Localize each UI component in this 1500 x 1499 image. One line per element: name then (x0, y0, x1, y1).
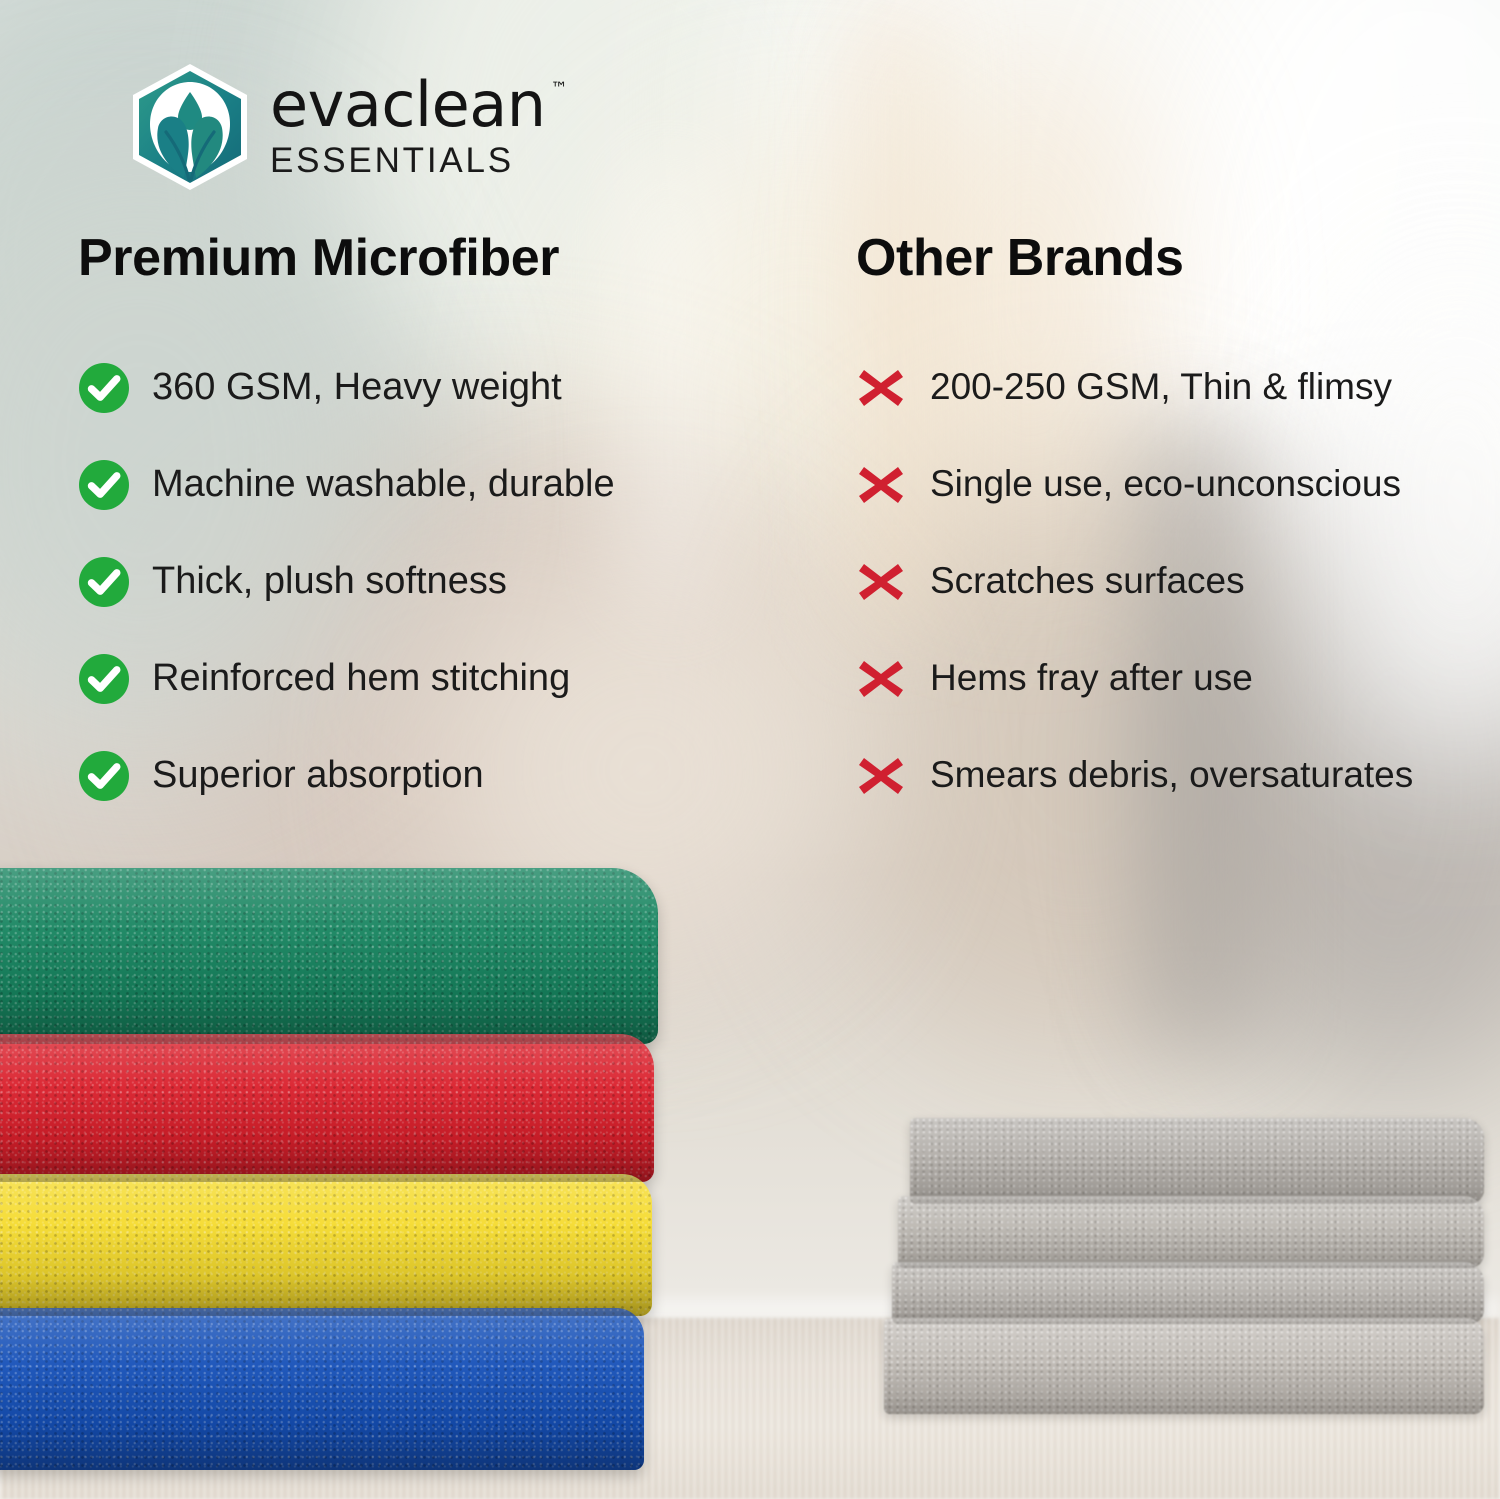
list-item: Reinforced hem stitching (78, 630, 818, 727)
premium-microfiber-towel-stack (0, 868, 676, 1388)
list-item: Single use, eco-unconscious (856, 436, 1486, 533)
hexagon-leaf-droplet-icon (128, 62, 252, 192)
other-brand-towel-stack (884, 1118, 1484, 1418)
feature-label: Single use, eco-unconscious (930, 465, 1401, 504)
feature-label: Scratches surfaces (930, 562, 1245, 601)
premium-column-title: Premium Microfiber (78, 232, 818, 284)
cross-mark-icon (856, 654, 930, 704)
towel-grey (898, 1196, 1484, 1268)
feature-label: Reinforced hem stitching (152, 659, 570, 699)
list-item: 360 GSM, Heavy weight (78, 339, 818, 436)
brand-logo: evaclean ™ ESSENTIALS (128, 62, 546, 192)
check-circle-icon (78, 362, 152, 414)
brand-name: evaclean (270, 75, 546, 135)
list-item: Scratches surfaces (856, 533, 1486, 630)
feature-label: 360 GSM, Heavy weight (152, 368, 562, 408)
check-circle-icon (78, 556, 152, 608)
cross-mark-icon (856, 751, 930, 801)
feature-label: Superior absorption (152, 756, 484, 796)
list-item: Thick, plush softness (78, 533, 818, 630)
cross-mark-icon (856, 460, 930, 510)
towel-grey (910, 1118, 1484, 1204)
towel-green (0, 868, 658, 1044)
list-item: Machine washable, durable (78, 436, 818, 533)
list-item: Superior absorption (78, 727, 818, 824)
brand-wordmark: evaclean ™ ESSENTIALS (270, 73, 546, 181)
list-item: Smears debris, oversaturates (856, 727, 1486, 824)
list-item: Hems fray after use (856, 630, 1486, 727)
towel-yellow (0, 1174, 652, 1316)
towel-red (0, 1034, 654, 1182)
towel-grey (892, 1262, 1484, 1324)
check-circle-icon (78, 459, 152, 511)
towel-grey (884, 1318, 1484, 1414)
list-item: 200-250 GSM, Thin & flimsy (856, 339, 1486, 436)
feature-label: Thick, plush softness (152, 562, 507, 602)
other-brands-column: Other Brands 200-250 GSM, Thin & flimsy … (856, 232, 1486, 824)
other-brands-feature-list: 200-250 GSM, Thin & flimsy Single use, e… (856, 339, 1486, 824)
towel-blue (0, 1308, 644, 1470)
infographic-canvas: evaclean ™ ESSENTIALS Premium Microfiber… (0, 0, 1500, 1499)
premium-microfiber-column: Premium Microfiber 360 GSM, Heavy weight (78, 232, 818, 824)
premium-feature-list: 360 GSM, Heavy weight Machine washable, … (78, 339, 818, 824)
check-circle-icon (78, 653, 152, 705)
check-circle-icon (78, 750, 152, 802)
other-brands-column-title: Other Brands (856, 232, 1486, 284)
feature-label: Smears debris, oversaturates (930, 756, 1413, 795)
trademark-symbol: ™ (551, 79, 568, 99)
feature-label: Machine washable, durable (152, 465, 615, 505)
feature-label: Hems fray after use (930, 659, 1253, 698)
cross-mark-icon (856, 557, 930, 607)
cross-mark-icon (856, 363, 930, 413)
feature-label: 200-250 GSM, Thin & flimsy (930, 368, 1392, 407)
brand-tagline: ESSENTIALS (270, 141, 546, 181)
